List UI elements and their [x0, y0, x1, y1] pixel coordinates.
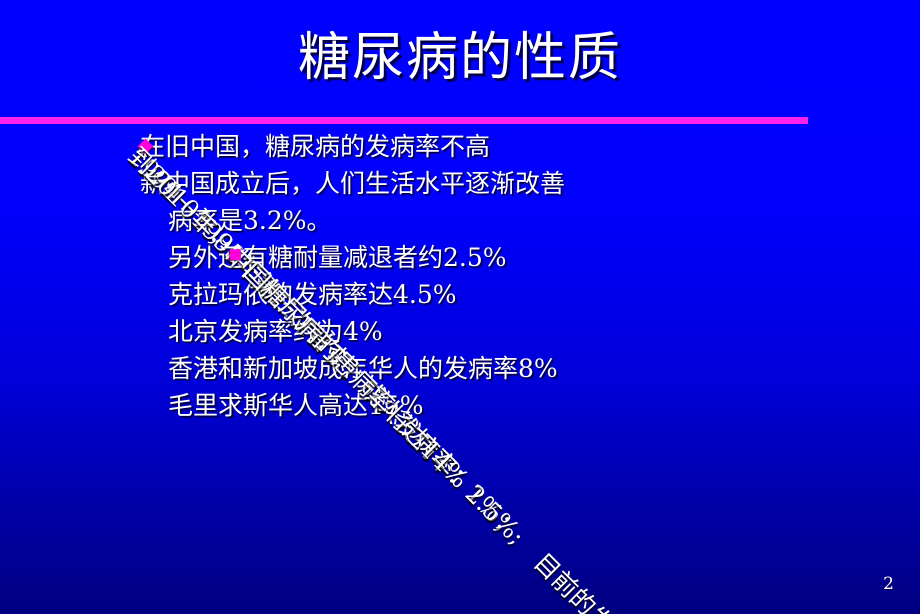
page-title: 糖尿病的性质	[298, 32, 622, 84]
line-text: 克拉玛依的发病率达4.5%	[168, 280, 457, 309]
line-text: 北京发病率约为4%	[168, 317, 383, 346]
body-text-line: 北京发病率约为4%	[0, 313, 920, 350]
body-text-line: 香港和新加坡成年华人的发病率8%	[0, 350, 920, 387]
body-text-line: 病率是3.2%。	[0, 202, 920, 239]
body-text-line: 克拉玛依的发病率达4.5%	[0, 276, 920, 313]
line-text: 在旧中国，糖尿病的发病率不高	[140, 132, 490, 161]
slide-body: 在旧中国，糖尿病的发病率不高新中国成立后，人们生活水平逐渐改善1979－1980…	[0, 128, 920, 424]
line-text: 新中国成立后，人们生活水平逐渐改善	[140, 169, 565, 198]
title-divider-rule	[0, 117, 808, 124]
body-text-line: 毛里求斯华人高达15%	[0, 387, 920, 424]
presentation-slide: 糖尿病的性质 在旧中国，糖尿病的发病率不高新中国成立后，人们生活水平逐渐改善19…	[0, 0, 920, 614]
body-text-line: 另外还有糖耐量减退者约2.5%	[0, 239, 920, 276]
slide-title-area: 糖尿病的性质	[0, 18, 920, 98]
slide-number: 2	[883, 574, 894, 594]
diamond-bullet-icon	[230, 249, 241, 260]
